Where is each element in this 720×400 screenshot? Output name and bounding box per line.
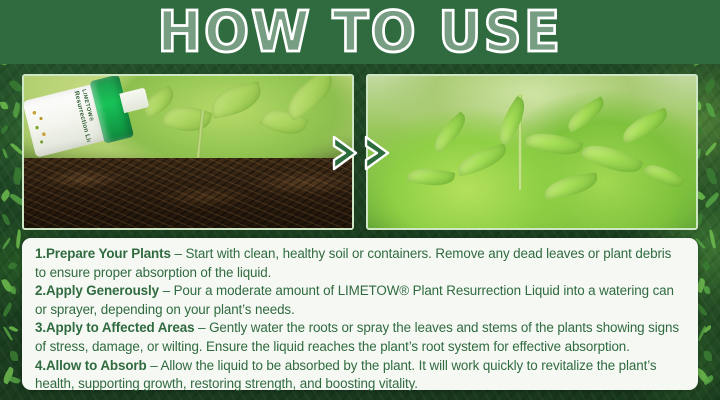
leaf-decoration bbox=[0, 101, 8, 110]
leaf-decoration bbox=[9, 325, 19, 333]
tea-leaf bbox=[563, 96, 610, 133]
tea-leaf bbox=[407, 163, 456, 190]
tea-leaf bbox=[618, 107, 671, 143]
product-bottle: LIMETOW® Resurrection Liquid bbox=[22, 76, 137, 159]
tea-leaf bbox=[543, 172, 599, 199]
tea-leaf bbox=[428, 111, 472, 153]
leaf-decoration bbox=[703, 192, 720, 208]
leaf-decoration bbox=[1, 237, 11, 249]
photo-after-application bbox=[366, 74, 698, 230]
instruction-step-dash: – bbox=[194, 320, 209, 335]
leaf-decoration bbox=[11, 102, 21, 118]
leaf-decoration bbox=[1, 302, 14, 317]
instruction-step-dash: – bbox=[171, 246, 186, 261]
instructions-card: 1.Prepare Your Plants – Start with clean… bbox=[22, 238, 698, 390]
leaf-decoration bbox=[704, 142, 718, 156]
leaf-decoration bbox=[10, 286, 17, 294]
leaf-decoration bbox=[2, 148, 8, 158]
instruction-step: 2.Apply Generously – Pour a moderate amo… bbox=[35, 282, 685, 319]
how-to-use-poster: HOW TO USE LIMETOW® Resurrection Liquid bbox=[0, 0, 720, 400]
leaf-decoration bbox=[709, 229, 716, 248]
instruction-step: 3.Apply to Affected Areas – Gently water… bbox=[35, 319, 685, 356]
page-title: HOW TO USE bbox=[158, 4, 563, 60]
instruction-step-title: 2.Apply Generously bbox=[35, 283, 159, 298]
leaf-decoration bbox=[697, 326, 707, 342]
tea-leaf bbox=[454, 143, 509, 177]
instruction-step-dash: – bbox=[147, 358, 161, 373]
instruction-step: 4.Allow to Absorb – Allow the liquid to … bbox=[35, 357, 685, 394]
leaf-decoration bbox=[10, 351, 18, 361]
instruction-step-dash: – bbox=[159, 283, 174, 298]
instruction-step-title: 3.Apply to Affected Areas bbox=[35, 320, 194, 335]
tea-leaf bbox=[524, 126, 583, 162]
photo-before-application: LIMETOW® Resurrection Liquid bbox=[22, 74, 354, 230]
seedling-leaf bbox=[280, 74, 341, 121]
leaf-decoration bbox=[2, 213, 11, 226]
seedling-leaf bbox=[161, 100, 212, 138]
instruction-step-title: 4.Allow to Absorb bbox=[35, 358, 147, 373]
soil-bed bbox=[24, 158, 352, 228]
seedling-leaf bbox=[208, 81, 265, 119]
leaf-decoration bbox=[15, 229, 22, 248]
photo-strip: LIMETOW® Resurrection Liquid bbox=[22, 74, 698, 230]
leaf-decoration bbox=[705, 102, 715, 118]
instruction-step-title: 1.Prepare Your Plants bbox=[35, 246, 171, 261]
leaf-decoration bbox=[702, 78, 717, 94]
leaf-decoration bbox=[704, 351, 712, 361]
leaf-decoration bbox=[701, 261, 711, 272]
tea-leaf bbox=[643, 158, 685, 194]
leaf-decoration bbox=[8, 375, 21, 386]
leaf-decoration bbox=[706, 167, 718, 185]
instruction-step: 1.Prepare Your Plants – Start with clean… bbox=[35, 245, 685, 282]
leaf-decoration bbox=[704, 286, 711, 294]
leaf-decoration bbox=[7, 261, 17, 272]
header-bar: HOW TO USE bbox=[0, 0, 720, 64]
leaf-decoration bbox=[0, 125, 9, 135]
